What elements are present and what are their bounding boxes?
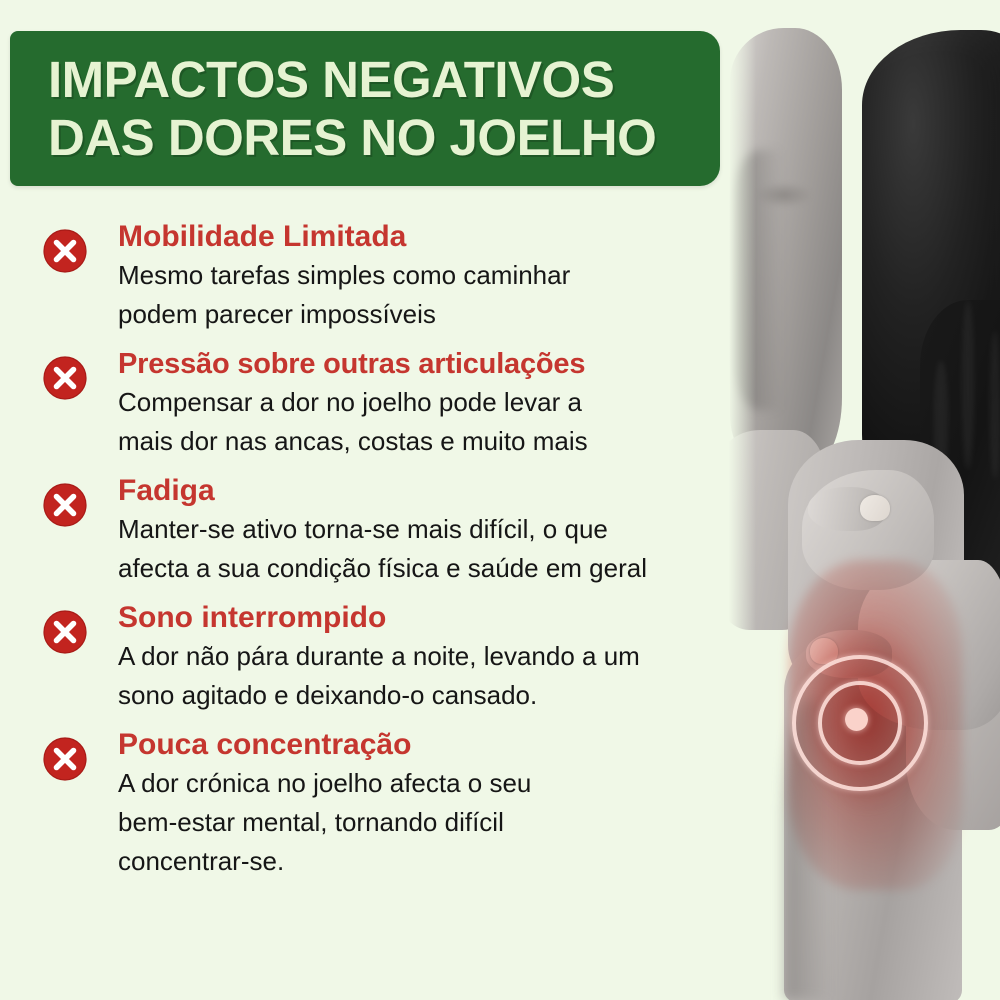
x-circle-icon xyxy=(42,228,88,274)
photo-thumbnail xyxy=(860,495,890,521)
photo-elbow-crease xyxy=(756,182,812,208)
page-title-line-2: DAS DORES NO JOELHO xyxy=(48,109,708,167)
item-description: Mesmo tarefas simples como caminhar pode… xyxy=(118,256,770,334)
item-description-line: Manter-se ativo torna-se mais difícil, o… xyxy=(118,510,770,549)
list-item: Mobilidade Limitada Mesmo tarefas simple… xyxy=(40,219,770,334)
item-title: Pouca concentração xyxy=(118,727,770,763)
x-circle-icon xyxy=(42,609,88,655)
item-title: Sono interrompido xyxy=(118,600,770,636)
item-description-line: sono agitado e deixando-o cansado. xyxy=(118,676,770,715)
item-description-line: podem parecer impossíveis xyxy=(118,295,770,334)
item-description-line: Mesmo tarefas simples como caminhar xyxy=(118,256,770,295)
infographic-poster: IMPACTOS NEGATIVOS DAS DORES NO JOELHO M… xyxy=(0,0,1000,1000)
x-circle-icon xyxy=(42,736,88,782)
photo-shirt-fold xyxy=(962,300,974,470)
list-item: Sono interrompido A dor não pára durante… xyxy=(40,600,770,715)
list-item: Pouca concentração A dor crónica no joel… xyxy=(40,727,770,881)
item-description-line: Compensar a dor no joelho pode levar a xyxy=(118,383,770,422)
item-description: Manter-se ativo torna-se mais difícil, o… xyxy=(118,510,770,588)
item-description: A dor não pára durante a noite, levando … xyxy=(118,637,770,715)
item-description-line: bem-estar mental, tornando difícil xyxy=(118,803,770,842)
photo-shirt-fold xyxy=(990,330,1000,480)
item-description-line: A dor crónica no joelho afecta o seu xyxy=(118,764,770,803)
item-description: A dor crónica no joelho afecta o seu bem… xyxy=(118,764,770,881)
item-description: Compensar a dor no joelho pode levar a m… xyxy=(118,383,770,461)
item-title: Mobilidade Limitada xyxy=(118,219,770,255)
x-circle-icon xyxy=(42,355,88,401)
item-description-line: A dor não pára durante a noite, levando … xyxy=(118,637,770,676)
item-description-line: concentrar-se. xyxy=(118,842,770,881)
item-description-line: mais dor nas ancas, costas e muito mais xyxy=(118,422,770,461)
list-item: Pressão sobre outras articulações Compen… xyxy=(40,346,770,461)
item-title: Fadiga xyxy=(118,473,770,509)
x-circle-icon xyxy=(42,482,88,528)
pain-center-dot xyxy=(845,708,868,731)
header-banner: IMPACTOS NEGATIVOS DAS DORES NO JOELHO xyxy=(10,31,720,186)
item-title: Pressão sobre outras articulações xyxy=(118,346,770,382)
impacts-list: Mobilidade Limitada Mesmo tarefas simple… xyxy=(40,214,770,893)
item-description-line: afecta a sua condição física e saúde em … xyxy=(118,549,770,588)
list-item: Fadiga Manter-se ativo torna-se mais dif… xyxy=(40,473,770,588)
pain-marker-rings xyxy=(792,655,928,791)
page-title-line-1: IMPACTOS NEGATIVOS xyxy=(48,51,614,108)
page-title: IMPACTOS NEGATIVOS DAS DORES NO JOELHO xyxy=(48,51,708,167)
